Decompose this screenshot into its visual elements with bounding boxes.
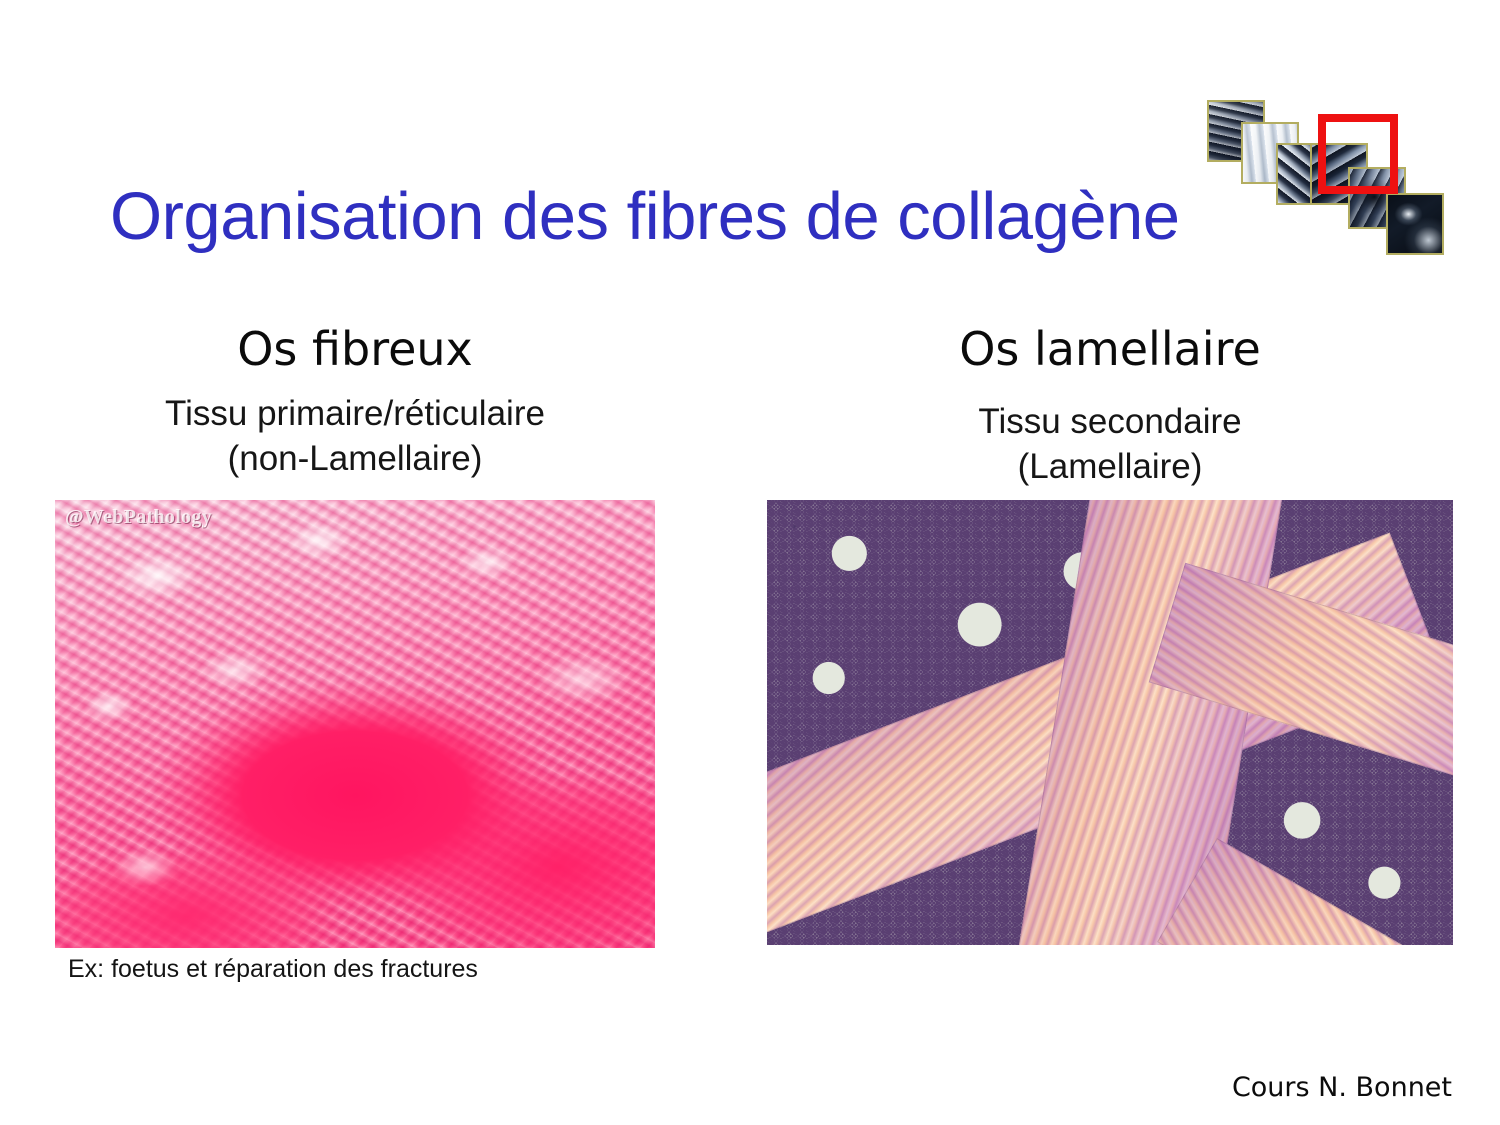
thumbnail-image-6 — [1388, 195, 1442, 253]
column-subtitle-os-fibreux: Tissu primaire/réticulaire (non-Lamellai… — [55, 392, 655, 482]
footer-credit: Cours N. Bonnet — [1232, 1072, 1452, 1103]
lamellar-bone-micrograph — [767, 500, 1453, 945]
thumbnail-hip-radiograph[interactable] — [1386, 193, 1444, 255]
watermark-label: @WebPathology — [65, 506, 212, 529]
column-subtitle-line2: (non-Lamellaire) — [55, 437, 655, 482]
column-subtitle-line2: (Lamellaire) — [767, 445, 1453, 490]
column-heading-os-lamellaire: Os lamellaire — [767, 325, 1453, 373]
column-subtitle-line1: Tissu primaire/réticulaire — [55, 392, 655, 437]
slide-canvas: Organisation des fibres de collagène Os … — [0, 0, 1500, 1125]
woven-bone-micrograph: @WebPathology — [55, 500, 655, 948]
column-heading-os-fibreux: Os fibreux — [55, 325, 655, 373]
column-subtitle-os-lamellaire: Tissu secondaire (Lamellaire) — [767, 400, 1453, 490]
left-image-caption: Ex: foetus et réparation des fractures — [68, 955, 478, 984]
thumbnail-selection-frame — [1318, 114, 1398, 194]
thumbnail-strip — [1200, 95, 1500, 295]
column-subtitle-line1: Tissu secondaire — [767, 400, 1453, 445]
